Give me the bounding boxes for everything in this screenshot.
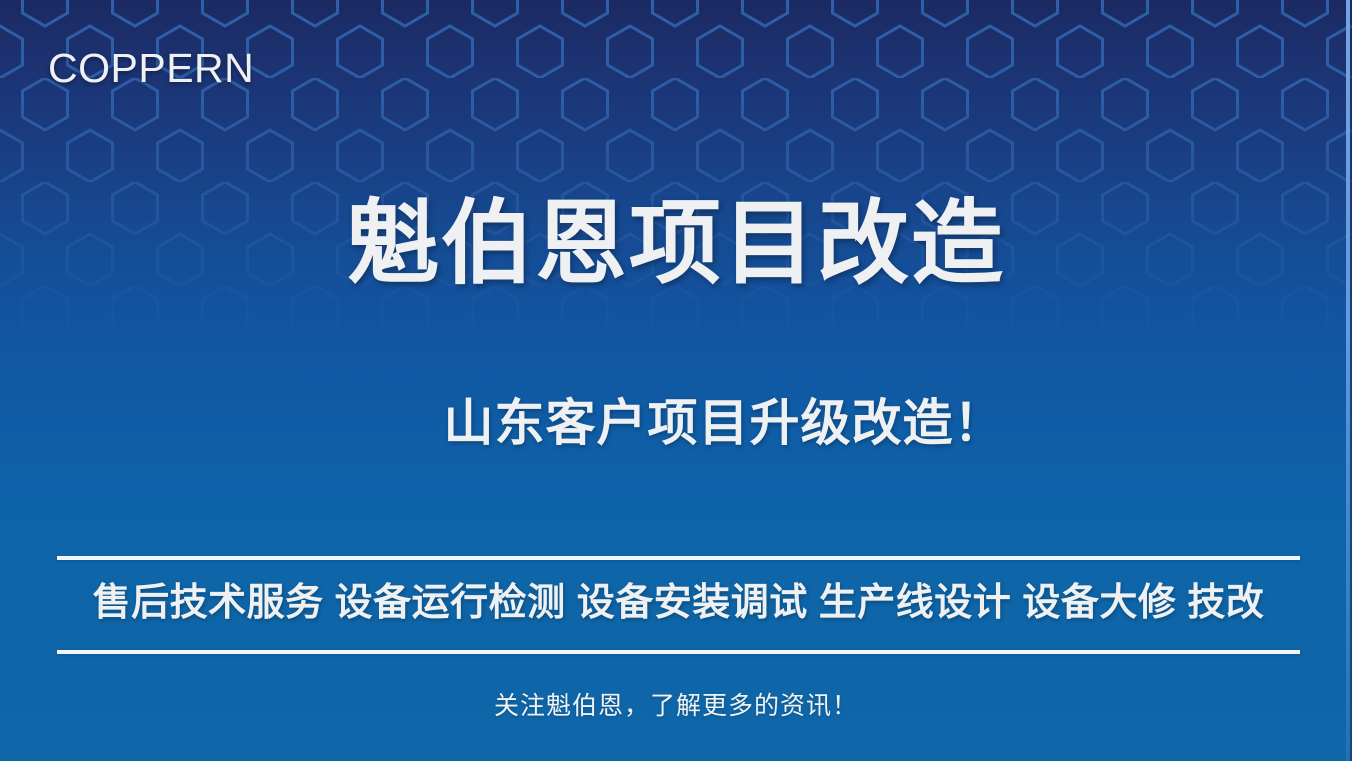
brand-logo: COPPERN [48, 45, 254, 92]
divider-line-bottom [57, 650, 1300, 654]
footer-note: 关注魁伯恩，了解更多的资讯！ [0, 686, 1352, 722]
slide-canvas: COPPERN 魁伯恩项目改造 山东客户项目升级改造！ 售后技术服务 设备运行检… [0, 0, 1352, 761]
page-title: 魁伯恩项目改造 [347, 198, 1005, 290]
page-subtitle: 山东客户项目升级改造！ [444, 398, 1005, 448]
divider-line-top [57, 556, 1300, 560]
hexagon-pattern-background [0, 0, 1352, 761]
subtitle-block: 山东客户项目升级改造！ [0, 398, 1352, 448]
headline-block: 魁伯恩项目改造 [0, 198, 1352, 290]
services-list: 售后技术服务 设备运行检测 设备安装调试 生产线设计 设备大修 技改 [57, 580, 1300, 626]
